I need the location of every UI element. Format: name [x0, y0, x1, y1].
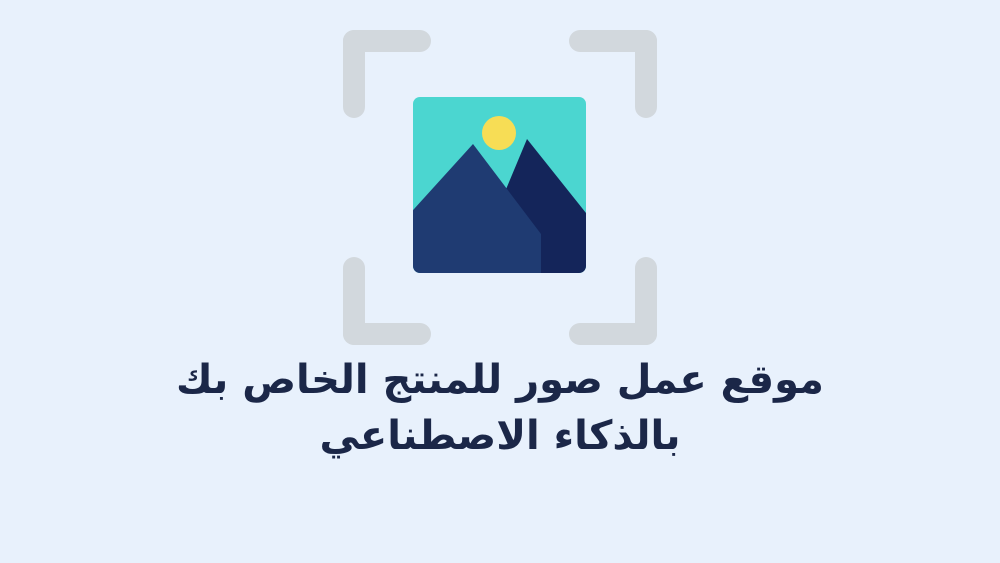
bracket-arm-vertical — [343, 257, 365, 345]
photo-thumbnail-icon — [413, 97, 586, 273]
image-scan-icon — [343, 30, 657, 345]
poster-canvas: موقع عمل صور للمنتج الخاص بك بالذكاء الا… — [0, 0, 1000, 563]
bracket-arm-vertical — [635, 30, 657, 118]
page-title-line-1: موقع عمل صور للمنتج الخاص بك — [0, 352, 1000, 408]
page-title-line-2: بالذكاء الاصطناعي — [0, 408, 1000, 464]
photo-sun-icon — [482, 116, 516, 150]
bracket-arm-vertical — [343, 30, 365, 118]
page-title: موقع عمل صور للمنتج الخاص بك بالذكاء الا… — [0, 352, 1000, 464]
bracket-arm-vertical — [635, 257, 657, 345]
